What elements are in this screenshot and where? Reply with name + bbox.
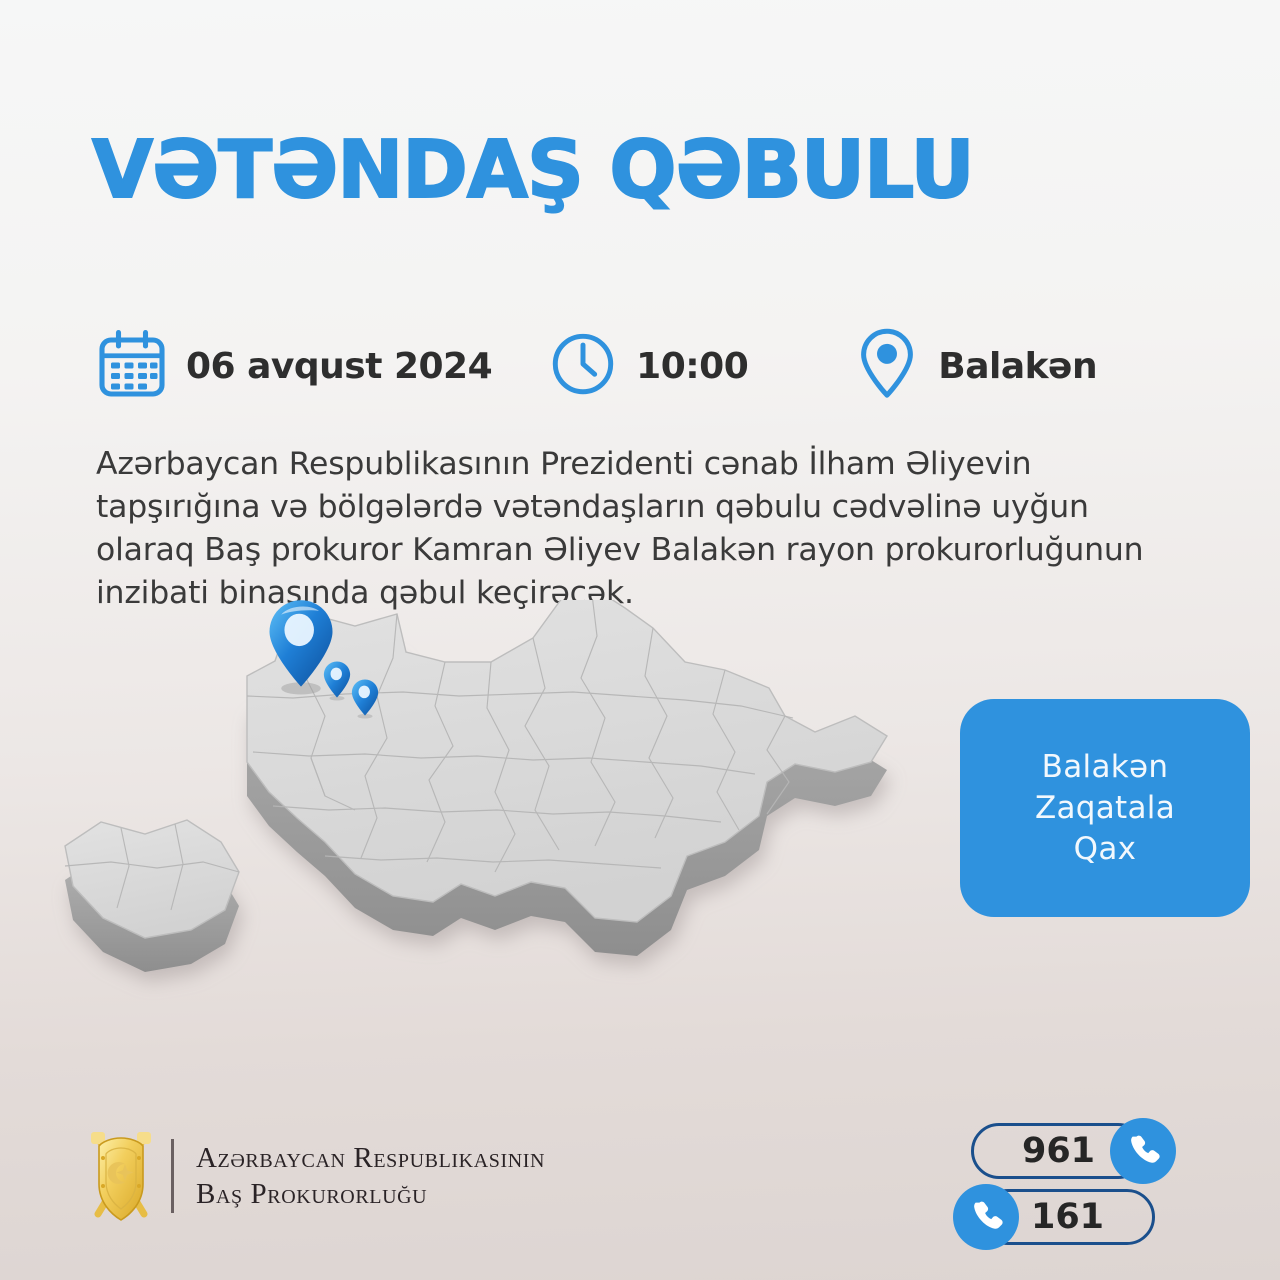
state-emblem-icon: [85, 1124, 157, 1228]
meta-item-place: Balakən: [854, 325, 1097, 408]
org-name-line2: Baş Prokurorluğu: [196, 1176, 545, 1212]
clock-icon: [548, 329, 618, 404]
hotline-numbers: 961 161: [960, 1122, 1210, 1252]
footer-branding: Azərbaycan Respublikasının Baş Prokurorl…: [85, 1124, 545, 1228]
map-pin-icon: [854, 325, 920, 408]
org-name: Azərbaycan Respublikasının Baş Prokurorl…: [196, 1140, 545, 1212]
org-name-line1: Azərbaycan Respublikasının: [196, 1140, 545, 1176]
poster-canvas: VƏTƏNDAŞ QƏBULU: [0, 0, 1280, 1280]
meta-item-time: 10:00: [548, 329, 748, 404]
phone-icon-961[interactable]: [1110, 1118, 1176, 1184]
hotline-961-number: 961: [1022, 1131, 1095, 1171]
meta-place-value: Balakən: [938, 346, 1097, 387]
map-pin-zaqatala: [322, 660, 352, 702]
meta-time-value: 10:00: [636, 346, 748, 387]
page-title: VƏTƏNDAŞ QƏBULU: [92, 131, 974, 210]
meta-item-date: 06 avqust 2024: [96, 328, 492, 405]
hotline-161-number: 161: [1031, 1197, 1104, 1237]
body-paragraph: Azərbaycan Respublikasının Prezidenti cə…: [96, 443, 1146, 615]
city-item-1: Balakən: [1042, 747, 1169, 788]
calendar-icon: [96, 328, 168, 405]
meta-date-value: 06 avqust 2024: [186, 346, 492, 387]
city-item-3: Qax: [1074, 829, 1137, 870]
map-pin-qax: [350, 678, 380, 720]
azerbaijan-map: [25, 600, 945, 1070]
meta-row: 06 avqust 2024 10:00 Balakə: [96, 325, 1097, 408]
city-item-2: Zaqatala: [1035, 788, 1175, 829]
footer-divider: [171, 1139, 174, 1213]
city-list-card: Balakən Zaqatala Qax: [960, 699, 1250, 917]
phone-icon-161[interactable]: [953, 1184, 1019, 1250]
